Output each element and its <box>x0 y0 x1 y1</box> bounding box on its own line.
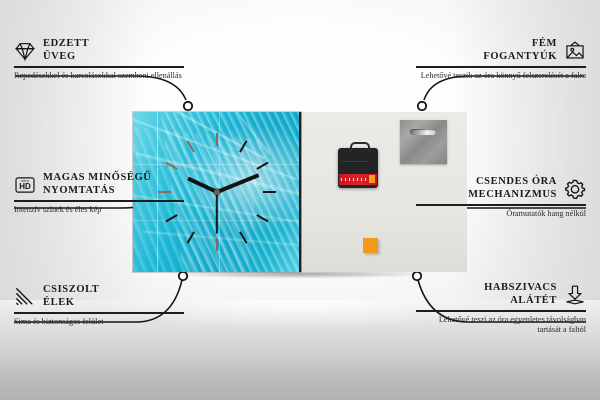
callout-header: ultra HD MAGAS MINŐSÉGŰ NYOMTATÁS <box>14 172 184 197</box>
callout-title: MAGAS MINŐSÉGŰ NYOMTATÁS <box>43 172 151 197</box>
clock-center-cap <box>214 189 220 195</box>
callout-divider <box>14 200 184 202</box>
callout-divider <box>416 66 586 68</box>
ultra-hd-icon-big-label: HD <box>14 183 36 191</box>
callout-divider <box>14 66 184 68</box>
callout-tempered-glass: EDZETT ÜVEG Repedésekkel és karcolásokka… <box>14 38 184 81</box>
callout-description: Sima és biztonságos felület <box>14 317 184 327</box>
mechanism-loop <box>350 142 370 153</box>
callout-title: FÉM FOGANTYÚK <box>483 38 557 63</box>
arrow-down-pad-icon <box>564 284 586 306</box>
callout-divider <box>14 312 184 314</box>
bevel-edge-icon <box>14 286 36 308</box>
callout-header: HABSZIVACS ALÁTÉT <box>416 282 586 307</box>
clock-minute-hand <box>214 173 259 194</box>
callout-metal-hangers: FÉM FOGANTYÚK Lehetővé teszik az óra kön… <box>416 38 586 81</box>
callout-hd-print: ultra HD MAGAS MINŐSÉGŰ NYOMTATÁS Intenz… <box>14 172 184 215</box>
callout-description: Intenzív színek és éles kép <box>14 205 184 215</box>
callout-header: FÉM FOGANTYÚK <box>416 38 586 63</box>
mechanism-label <box>339 174 377 185</box>
callout-title: EDZETT ÜVEG <box>43 38 89 63</box>
callout-title: HABSZIVACS ALÁTÉT <box>484 282 557 307</box>
mechanism-label-print <box>341 178 367 181</box>
callout-silent-mechanism: CSENDES ÓRA MECHANIZMUS Óramutatók hang … <box>416 176 586 219</box>
mechanism-seam <box>341 161 369 162</box>
callout-foam-pad: HABSZIVACS ALÁTÉT Lehetővé teszi az óra … <box>416 282 586 335</box>
callout-description: Lehetővé teszik az óra könnyű felszerelé… <box>416 71 586 81</box>
callout-title: CSENDES ÓRA MECHANIZMUS <box>468 176 557 201</box>
clock-mechanism-part <box>338 148 378 188</box>
callout-polished-edges: CSISZOLT ÉLEK Sima és biztonságos felüle… <box>14 284 184 327</box>
gear-icon <box>564 178 586 200</box>
callout-description: Óramutatók hang nélkül <box>416 209 586 219</box>
callout-title: CSISZOLT ÉLEK <box>43 284 99 309</box>
callout-header: CSENDES ÓRA MECHANIZMUS <box>416 176 586 201</box>
callout-header: CSISZOLT ÉLEK <box>14 284 184 309</box>
clock-second-hand <box>216 190 218 234</box>
callout-divider <box>416 310 586 312</box>
picture-hanger-icon <box>564 40 586 62</box>
diamond-icon <box>14 40 36 62</box>
callout-description: Lehetővé teszi az óra egyenletes távolsá… <box>416 315 586 335</box>
callout-divider <box>416 204 586 206</box>
metal-hanger-part <box>400 120 447 164</box>
ultra-hd-icon: ultra HD <box>14 174 36 196</box>
callout-header: EDZETT ÜVEG <box>14 38 184 63</box>
foam-pad-part <box>363 238 378 253</box>
callout-description: Repedésekkel és karcolásokkal szembeni e… <box>14 71 184 81</box>
hanger-slot <box>410 129 436 135</box>
infographic-stage: EDZETT ÜVEG Repedésekkel és karcolásokka… <box>0 0 600 400</box>
